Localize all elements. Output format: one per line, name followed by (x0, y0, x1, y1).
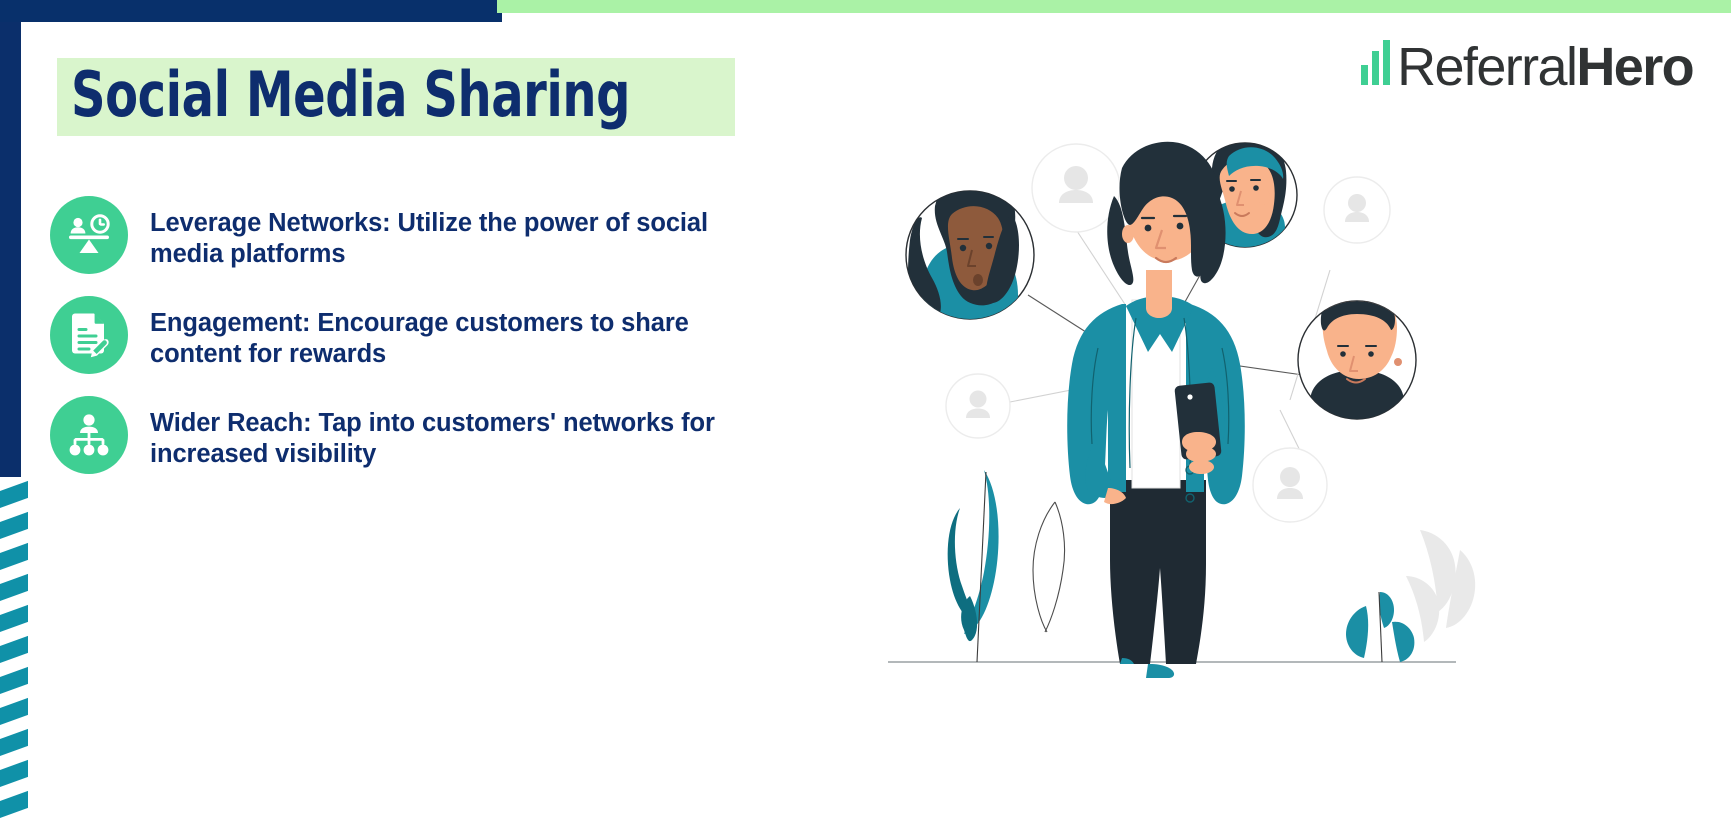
bullet-list: Leverage Networks: Utilize the power of … (50, 196, 810, 496)
logo-wordmark: ReferralHero (1397, 40, 1693, 94)
list-item: Wider Reach: Tap into customers' network… (50, 396, 810, 474)
list-item-label: Wider Reach: Tap into customers' network… (150, 396, 750, 470)
diagonal-stripe (0, 605, 28, 634)
logo-word-bold: Hero (1576, 37, 1693, 97)
logo-word-light: Referral (1397, 37, 1576, 97)
logo-bars-icon (1361, 40, 1390, 85)
referralhero-logo: ReferralHero (1361, 40, 1693, 94)
diagonal-stripe (0, 698, 28, 727)
left-accent-notch (21, 22, 49, 44)
diagonal-stripe (0, 512, 28, 541)
woman-with-phone-social-network-illustration (860, 110, 1500, 730)
top-bar-green (497, 0, 1731, 13)
network-hierarchy-icon (50, 396, 128, 474)
list-item: Leverage Networks: Utilize the power of … (50, 196, 810, 274)
list-item-label: Engagement: Encourage customers to share… (150, 296, 750, 370)
page-title: Social Media Sharing (71, 64, 630, 126)
list-item: Engagement: Encourage customers to share… (50, 296, 810, 374)
diagonal-stripe (0, 667, 28, 696)
diagonal-stripes-decor (0, 487, 40, 834)
page-title-highlight: Social Media Sharing (57, 58, 735, 136)
diagonal-stripe (0, 791, 28, 820)
left-accent-bar-navy (0, 22, 21, 477)
diagonal-stripe (0, 636, 28, 665)
diagonal-stripe (0, 543, 28, 572)
document-edit-icon (50, 296, 128, 374)
slide-root: Social Media Sharing Leverage Net (0, 0, 1731, 834)
diagonal-stripe (0, 760, 28, 789)
list-item-label: Leverage Networks: Utilize the power of … (150, 196, 750, 270)
diagonal-stripe (0, 481, 28, 510)
diagonal-stripe (0, 574, 28, 603)
top-bar-navy (0, 0, 502, 22)
diagonal-stripe (0, 729, 28, 758)
balance-scale-icon (50, 196, 128, 274)
